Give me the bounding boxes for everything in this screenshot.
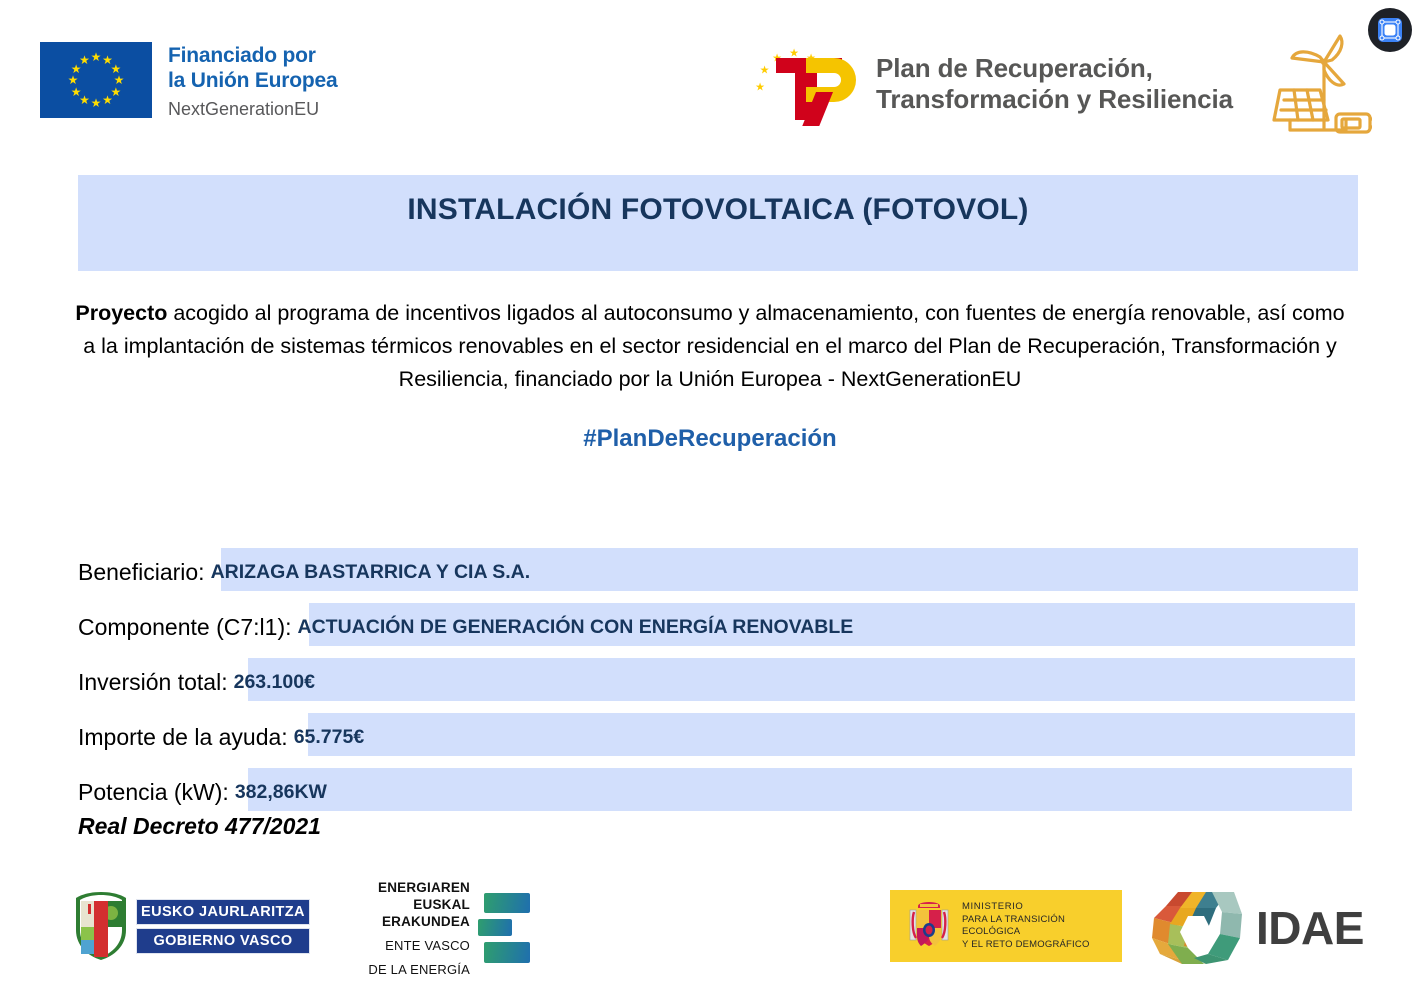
eu-funding-logo: ★★★★★★★★★★★★ Financiado por la Unión Eur… xyxy=(40,42,338,122)
basque-coat-of-arms-icon xyxy=(70,890,132,962)
eu-flag-icon: ★★★★★★★★★★★★ xyxy=(40,42,152,118)
detail-row-value: 382,86KW xyxy=(235,781,327,804)
screenshot-selection-icon[interactable] xyxy=(1368,8,1412,52)
detail-row-value: ARIZAGA BASTARRICA Y CIA S.A. xyxy=(211,561,531,584)
intro-paragraph: Proyecto acogido al programa de incentiv… xyxy=(70,297,1350,396)
idae-wordmark: IDAE xyxy=(1256,905,1364,951)
eve-line-4: DE LA ENERGÍA xyxy=(330,961,470,978)
hashtag: #PlanDeRecuperación xyxy=(70,425,1350,453)
ministerio-line-1: MINISTERIO xyxy=(962,901,1122,914)
detail-row-value: 263.100€ xyxy=(234,671,315,694)
prtr-logo: ★★★★★ Plan de Recuperación, Transformaci… xyxy=(748,44,1233,124)
detail-row-label: Importe de la ayuda: xyxy=(78,724,288,751)
legal-reference: Real Decreto 477/2021 xyxy=(78,813,321,840)
detail-row-value: 65.775€ xyxy=(294,726,365,749)
gobierno-vasco-wordmark: EUSKO JAURLARITZA GOBIERNO VASCO xyxy=(136,899,310,954)
page-header: ★★★★★★★★★★★★ Financiado por la Unión Eur… xyxy=(0,0,1420,160)
eu-line-3: NextGenerationEU xyxy=(168,97,338,122)
detail-row-label: Potencia (kW): xyxy=(78,779,229,806)
ministerio-line-3: Y EL RETO DEMOGRÁFICO xyxy=(962,939,1122,952)
gv-line-1: EUSKO JAURLARITZA xyxy=(136,899,310,925)
prtr-mark-icon: ★★★★★ xyxy=(748,44,858,124)
detail-row: Importe de la ayuda:65.775€ xyxy=(78,710,1358,765)
detail-row-label: Componente (C7:l1): xyxy=(78,614,292,641)
wind-turbine-solar-panel-battery-icon xyxy=(1262,32,1372,144)
eu-line-1: Financiado por xyxy=(168,43,338,68)
prtr-logo-text: Plan de Recuperación, Transformación y R… xyxy=(876,53,1233,115)
spain-coat-of-arms-icon xyxy=(904,898,954,954)
footer-logos: EUSKO JAURLARITZA GOBIERNO VASCO ENERGIA… xyxy=(0,878,1420,988)
detail-row: Componente (C7:l1):ACTUACIÓN DE GENERACI… xyxy=(78,600,1358,655)
detail-row-value: ACTUACIÓN DE GENERACIÓN CON ENERGÍA RENO… xyxy=(298,616,854,639)
eve-line-2: EUSKAL ERAKUNDEA xyxy=(330,896,470,930)
prtr-line-1: Plan de Recuperación, xyxy=(876,53,1233,84)
detail-row: Potencia (kW):382,86KW xyxy=(78,765,1358,820)
detail-row-label: Inversión total: xyxy=(78,669,228,696)
project-details-list: Beneficiario:ARIZAGA BASTARRICA Y CIA S.… xyxy=(78,545,1358,820)
gv-line-2: GOBIERNO VASCO xyxy=(136,928,310,954)
ministerio-logo: MINISTERIO PARA LA TRANSICIÓN ECOLÓGICA … xyxy=(890,890,1122,962)
detail-row-label: Beneficiario: xyxy=(78,559,205,586)
ministerio-wordmark: MINISTERIO PARA LA TRANSICIÓN ECOLÓGICA … xyxy=(962,901,1122,951)
eve-line-3: ENTE VASCO xyxy=(330,937,470,954)
detail-row-highlight xyxy=(248,658,1355,701)
title-banner: INSTALACIÓN FOTOVOLTAICA (FOTOVOL) xyxy=(78,175,1358,271)
eu-line-2: la Unión Europea xyxy=(168,68,338,93)
page-title: INSTALACIÓN FOTOVOLTAICA (FOTOVOL) xyxy=(78,175,1358,227)
detail-row: Beneficiario:ARIZAGA BASTARRICA Y CIA S.… xyxy=(78,545,1358,600)
intro-paragraph-body: acogido al programa de incentivos ligado… xyxy=(83,301,1344,391)
eve-e-mark-icon xyxy=(478,891,530,965)
eu-funding-text: Financiado por la Unión Europea NextGene… xyxy=(168,42,338,122)
detail-row-highlight xyxy=(248,768,1352,811)
detail-row: Inversión total:263.100€ xyxy=(78,655,1358,710)
idae-logo: IDAE xyxy=(1148,886,1388,970)
idae-mark-icon xyxy=(1148,888,1244,968)
ministerio-line-2: PARA LA TRANSICIÓN ECOLÓGICA xyxy=(962,914,1122,939)
gobierno-vasco-logo: EUSKO JAURLARITZA GOBIERNO VASCO xyxy=(70,888,310,964)
eve-logo: ENERGIAREN EUSKAL ERAKUNDEA ENTE VASCO D… xyxy=(330,886,530,970)
prtr-line-2: Transformación y Resiliencia xyxy=(876,84,1233,115)
detail-row-highlight xyxy=(308,713,1355,756)
eve-line-1: ENERGIAREN xyxy=(330,879,470,896)
intro-paragraph-lead: Proyecto xyxy=(75,301,167,325)
eve-wordmark: ENERGIAREN EUSKAL ERAKUNDEA ENTE VASCO D… xyxy=(330,879,470,978)
